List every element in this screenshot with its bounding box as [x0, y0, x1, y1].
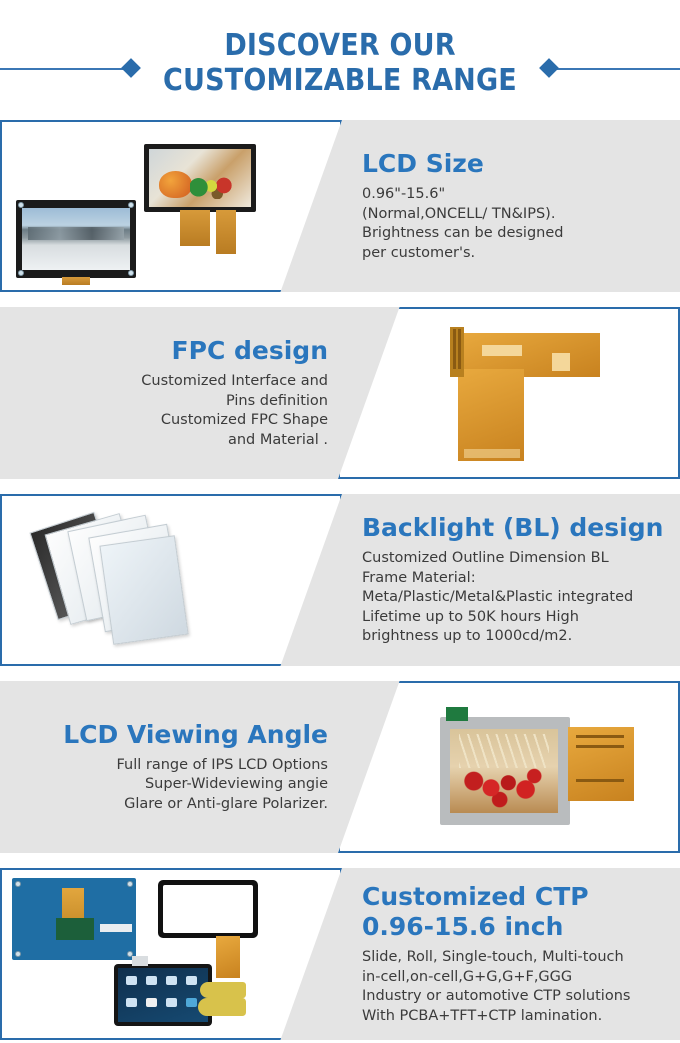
copy-fpc-design: FPC design Customized Interface and Pins…: [0, 307, 350, 479]
copy-backlight-design: Backlight (BL) design Customized Outline…: [330, 494, 680, 666]
feature-section-customized-ctp: Customized CTP 0.96-15.6 inch Slide, Rol…: [0, 868, 680, 1040]
image-panel-customized-ctp: [0, 868, 342, 1040]
lcd-size-modules-photo: [2, 122, 340, 290]
image-panel-fpc-design: [338, 307, 680, 479]
section-body: Customized Interface and Pins definition…: [141, 372, 328, 450]
section-body: Customized Outline Dimension BL Frame Ma…: [362, 549, 633, 647]
backlight-sheets-photo: [2, 496, 340, 664]
copy-lcd-viewing-angle: LCD Viewing Angle Full range of IPS LCD …: [0, 681, 350, 853]
image-panel-lcd-size: [0, 120, 342, 292]
fpc-flexible-circuit-photo: [340, 309, 678, 477]
page-header: DISCOVER OUR CUSTOMIZABLE RANGE: [0, 0, 680, 120]
section-title: Backlight (BL) design: [362, 513, 663, 543]
page-title: DISCOVER OUR CUSTOMIZABLE RANGE: [0, 28, 680, 98]
ips-lcd-module-photo: [340, 683, 678, 851]
image-panel-lcd-viewing-angle: [338, 681, 680, 853]
page-title-line2: CUSTOMIZABLE RANGE: [0, 63, 680, 98]
feature-section-lcd-size: LCD Size 0.96"-15.6" (Normal,ONCELL/ TN&…: [0, 120, 680, 292]
section-title: FPC design: [172, 336, 328, 366]
copy-lcd-size: LCD Size 0.96"-15.6" (Normal,ONCELL/ TN&…: [330, 120, 680, 292]
section-title: LCD Viewing Angle: [63, 720, 328, 750]
section-body: Slide, Roll, Single-touch, Multi-touch i…: [362, 948, 630, 1026]
section-body: Full range of IPS LCD Options Super-Wide…: [116, 756, 328, 815]
feature-section-fpc-design: FPC design Customized Interface and Pins…: [0, 307, 680, 479]
section-title: LCD Size: [362, 149, 484, 179]
section-body: 0.96"-15.6" (Normal,ONCELL/ TN&IPS). Bri…: [362, 185, 563, 263]
promo-page: DISCOVER OUR CUSTOMIZABLE RANGE: [0, 0, 680, 1043]
section-title: Customized CTP 0.96-15.6 inch: [362, 882, 589, 942]
page-title-line1: DISCOVER OUR: [224, 28, 455, 63]
feature-section-backlight-design: Backlight (BL) design Customized Outline…: [0, 494, 680, 666]
image-panel-backlight-design: [0, 494, 342, 666]
copy-customized-ctp: Customized CTP 0.96-15.6 inch Slide, Rol…: [330, 868, 680, 1040]
capacitive-touch-panels-photo: [2, 870, 340, 1038]
feature-section-lcd-viewing-angle: LCD Viewing Angle Full range of IPS LCD …: [0, 681, 680, 853]
